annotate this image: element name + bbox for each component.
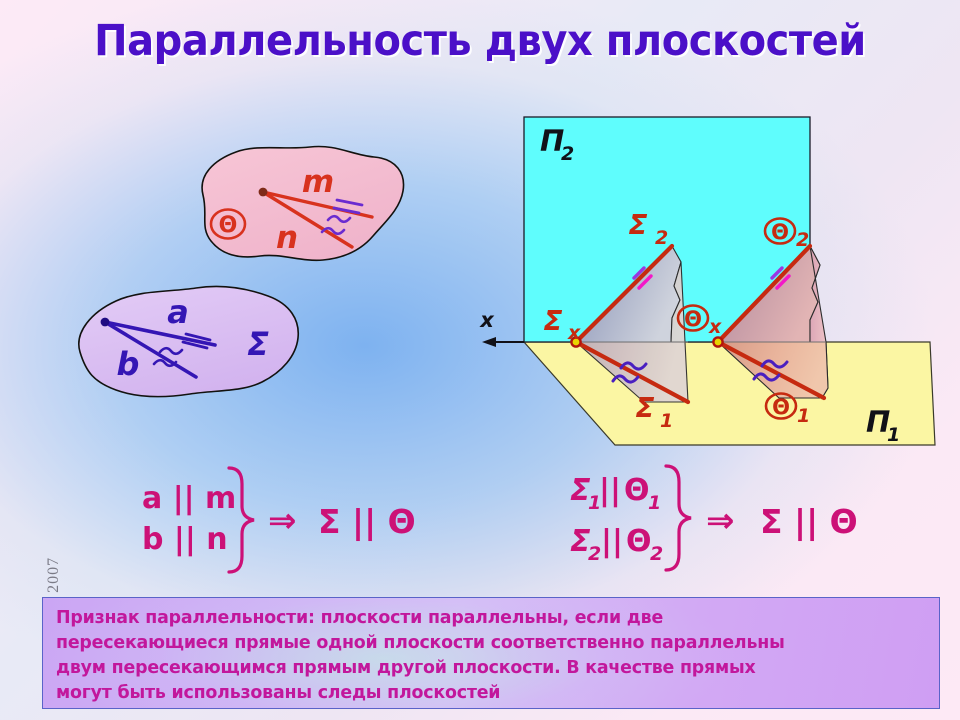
svg-text:Θ: Θ: [626, 524, 652, 559]
svg-text:1: 1: [660, 410, 673, 432]
plane-blob-sigma: a b Σ: [79, 286, 298, 396]
formula-right-implies: ⇒: [706, 501, 735, 541]
statement-line-4: могут быть использованы следы плоскостей: [56, 681, 927, 706]
svg-text:2: 2: [796, 229, 809, 251]
intersection-point-mn: [259, 188, 268, 197]
svg-text:Σ: Σ: [635, 391, 654, 424]
svg-text:2: 2: [588, 543, 601, 565]
label-plane-sigma: Σ: [247, 325, 269, 363]
svg-text:1: 1: [887, 424, 900, 446]
svg-text:Σ: Σ: [628, 208, 647, 241]
intersection-point-ab: [101, 318, 110, 327]
svg-text:2: 2: [655, 227, 668, 249]
svg-text:||: ||: [599, 473, 621, 508]
statement-line-1: Признак параллельности: плоскости паралл…: [56, 606, 927, 631]
label-axis-x: x: [479, 308, 495, 332]
formula-left-row1: a || m: [142, 481, 236, 516]
formula-right-brace: [666, 466, 691, 570]
svg-text:||: ||: [601, 524, 623, 559]
svg-text:Θ: Θ: [684, 307, 702, 331]
svg-text:Θ: Θ: [771, 220, 789, 244]
slide-canvas: Параллельность двух плоскостей Столбова …: [0, 0, 960, 720]
label-line-n: n: [276, 220, 298, 256]
plane-blob-theta: m n Θ: [202, 146, 403, 260]
svg-text:Θ: Θ: [219, 213, 238, 238]
formula-right-row2: Σ 2 || Θ 2: [570, 524, 663, 565]
svg-text:Σ: Σ: [543, 304, 562, 337]
svg-text:2: 2: [650, 543, 663, 565]
svg-text:x: x: [708, 316, 722, 338]
statement-box: Признак параллельности: плоскости паралл…: [42, 597, 940, 709]
label-line-b: b: [117, 345, 140, 383]
svg-text:1: 1: [797, 405, 810, 427]
projection-diagram: Σ 2 Σ x Σ 1: [479, 117, 935, 446]
svg-text:Θ: Θ: [772, 395, 790, 419]
statement-line-3: двум пересекающимся прямым другой плоско…: [56, 656, 927, 681]
svg-text:2: 2: [561, 143, 574, 165]
formula-left-row2: b || n: [142, 522, 228, 557]
svg-text:Θ: Θ: [624, 473, 650, 508]
label-line-m: m: [302, 164, 334, 200]
axis-x: x: [479, 308, 524, 347]
statement-line-2: пересекающиеся прямые одной плоскости со…: [56, 631, 927, 656]
svg-text:1: 1: [648, 492, 661, 514]
formula-left-result: Σ || Θ: [318, 502, 416, 541]
formula-left: a || m b || n ⇒ Σ || Θ: [142, 468, 416, 572]
svg-text:x: x: [567, 322, 581, 344]
formula-right: Σ 1 || Θ 1 Σ 2 || Θ 2 ⇒ Σ || Θ: [570, 466, 858, 570]
formula-right-row1: Σ 1 || Θ 1: [570, 473, 661, 514]
formula-left-implies: ⇒: [268, 501, 297, 541]
trace-point-theta-x: [713, 337, 722, 346]
label-line-a: a: [167, 293, 189, 331]
formula-right-result: Σ || Θ: [760, 502, 858, 541]
